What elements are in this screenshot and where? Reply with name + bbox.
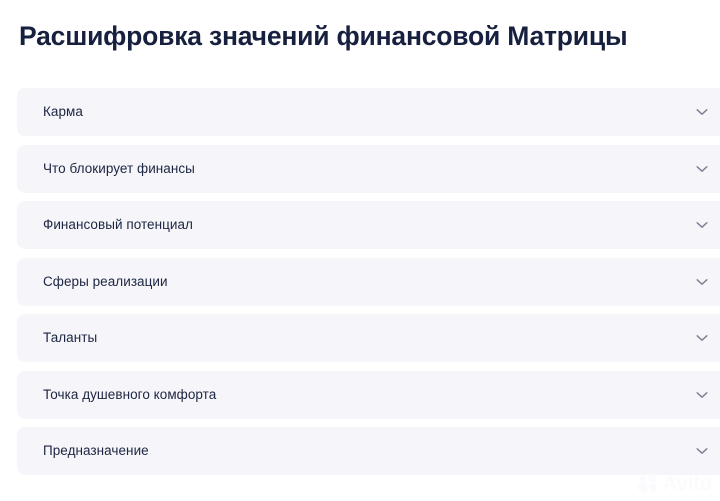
accordion-item-label: Таланты <box>43 329 97 347</box>
chevron-down-icon[interactable] <box>695 331 709 345</box>
accordion-item-talents[interactable]: Таланты <box>17 314 720 362</box>
chevron-down-icon[interactable] <box>695 162 709 176</box>
chevron-down-icon[interactable] <box>695 105 709 119</box>
accordion-item-spheres[interactable]: Сферы реализации <box>17 258 720 306</box>
accordion-item-blockers[interactable]: Что блокирует финансы <box>17 145 720 193</box>
page-root: Расшифровка значений финансовой Матрицы … <box>0 0 720 501</box>
accordion-item-financial-potential[interactable]: Финансовый потенциал <box>17 201 720 249</box>
accordion-list: Карма Что блокирует финансы Финансовый п… <box>17 88 720 484</box>
chevron-down-icon[interactable] <box>695 388 709 402</box>
accordion-item-purpose[interactable]: Предназначение <box>17 427 720 475</box>
chevron-down-icon[interactable] <box>695 275 709 289</box>
page-title: Расшифровка значений финансовой Матрицы <box>19 19 720 53</box>
accordion-item-label: Сферы реализации <box>43 273 168 291</box>
accordion-item-label: Что блокирует финансы <box>43 160 195 178</box>
accordion-item-karma[interactable]: Карма <box>17 88 720 136</box>
accordion-item-label: Предназначение <box>43 442 149 460</box>
accordion-item-comfort-point[interactable]: Точка душевного комфорта <box>17 371 720 419</box>
accordion-item-label: Точка душевного комфорта <box>43 386 216 404</box>
chevron-down-icon[interactable] <box>695 218 709 232</box>
chevron-down-icon[interactable] <box>695 444 709 458</box>
accordion-item-label: Карма <box>43 103 83 121</box>
accordion-item-label: Финансовый потенциал <box>43 216 193 234</box>
